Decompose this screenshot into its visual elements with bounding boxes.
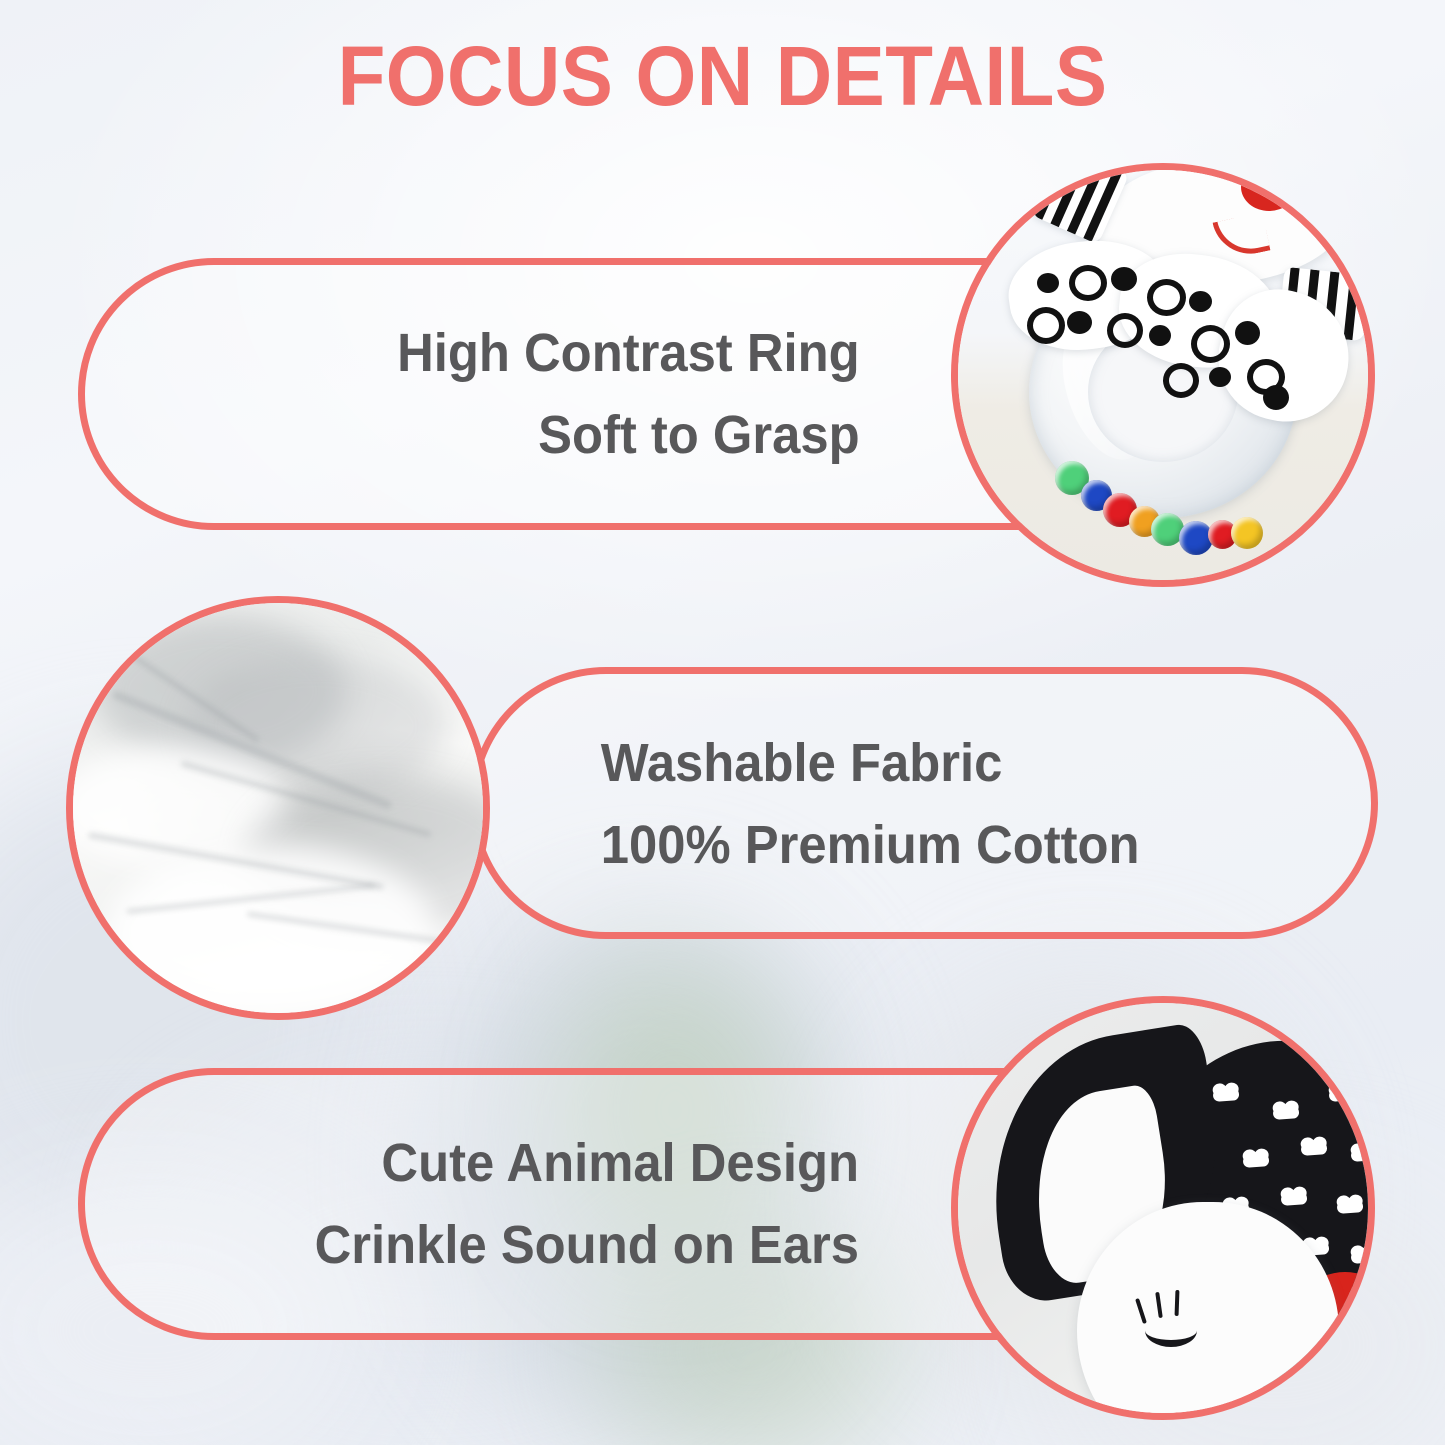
page-title: FOCUS ON DETAILS [51, 34, 1395, 118]
feature-line-1a: High Contrast Ring [397, 312, 859, 394]
feature-line-2b: 100% Premium Cotton [601, 804, 1140, 886]
closed-eye [1145, 1314, 1197, 1347]
fleece-fabric-photo [66, 596, 490, 1020]
feature-image-circle-1 [951, 163, 1375, 587]
feature-text-2: Washable Fabric 100% Premium Cotton [601, 700, 1315, 908]
infographic-canvas: FOCUS ON DETAILS High Contrast Ring Soft… [0, 0, 1445, 1445]
rattle-ring-photo [951, 163, 1375, 587]
cat-plush-photo [951, 996, 1375, 1420]
feature-line-2a: Washable Fabric [601, 722, 1002, 804]
feature-image-circle-3 [951, 996, 1375, 1420]
bead-yellow [1231, 517, 1263, 549]
feature-line-3b: Crinkle Sound on Ears [315, 1204, 859, 1286]
feature-line-1b: Soft to Grasp [538, 394, 859, 476]
feature-line-3a: Cute Animal Design [381, 1122, 859, 1204]
red-dot-accent [1241, 163, 1297, 211]
feature-text-3: Cute Animal Design Crinkle Sound on Ears [201, 1100, 859, 1308]
feature-image-circle-2 [66, 596, 490, 1020]
feature-text-1: High Contrast Ring Soft to Grasp [220, 290, 859, 498]
eyelash [1175, 1290, 1180, 1316]
